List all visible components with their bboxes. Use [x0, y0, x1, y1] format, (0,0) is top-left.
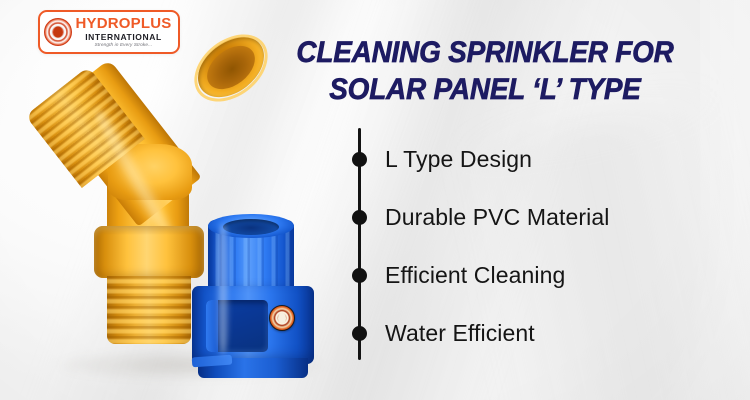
feature-label: Durable PVC Material — [385, 204, 609, 231]
product-banner: HYDROPLUS INTERNATIONAL Strength in Ever… — [0, 0, 750, 400]
bullet-dot-icon — [352, 152, 367, 167]
feature-label: Water Efficient — [385, 320, 535, 347]
brand-subtitle: INTERNATIONAL — [74, 33, 173, 42]
page-title-line-2: SOLAR PANEL ‘L’ TYPE — [266, 75, 703, 105]
elbow-lower-threads — [107, 276, 191, 344]
page-title-line-1: CLEANING SPRINKLER FOR — [266, 38, 703, 68]
feature-item-1: Durable PVC Material — [352, 200, 609, 234]
brand-seal-icon — [44, 18, 72, 46]
elbow-hex-nut — [94, 226, 204, 278]
feature-item-3: Water Efficient — [352, 316, 535, 350]
feature-list: L Type Design Durable PVC Material Effic… — [352, 128, 682, 360]
feature-item-0: L Type Design — [352, 142, 532, 176]
page-title: CLEANING SPRINKLER FOR SOLAR PANEL ‘L’ T… — [250, 38, 720, 105]
bullet-dot-icon — [352, 268, 367, 283]
feature-label: L Type Design — [385, 146, 532, 173]
brand-logo[interactable]: HYDROPLUS INTERNATIONAL Strength in Ever… — [38, 10, 180, 54]
sprinkler-seal-icon — [269, 305, 295, 331]
feature-item-2: Efficient Cleaning — [352, 258, 565, 292]
bullet-dot-icon — [352, 326, 367, 341]
sprinkler-bore — [223, 219, 279, 235]
brand-name: HYDROPLUS — [74, 16, 173, 31]
brand-tagline: Strength in Every Stroke... — [74, 43, 173, 48]
sprinkler-highlight — [216, 224, 230, 354]
brand-logo-text: HYDROPLUS INTERNATIONAL Strength in Ever… — [72, 16, 173, 47]
bullet-dot-icon — [352, 210, 367, 225]
feature-label: Efficient Cleaning — [385, 262, 565, 289]
sprinkler-housing-graphic — [190, 216, 320, 386]
